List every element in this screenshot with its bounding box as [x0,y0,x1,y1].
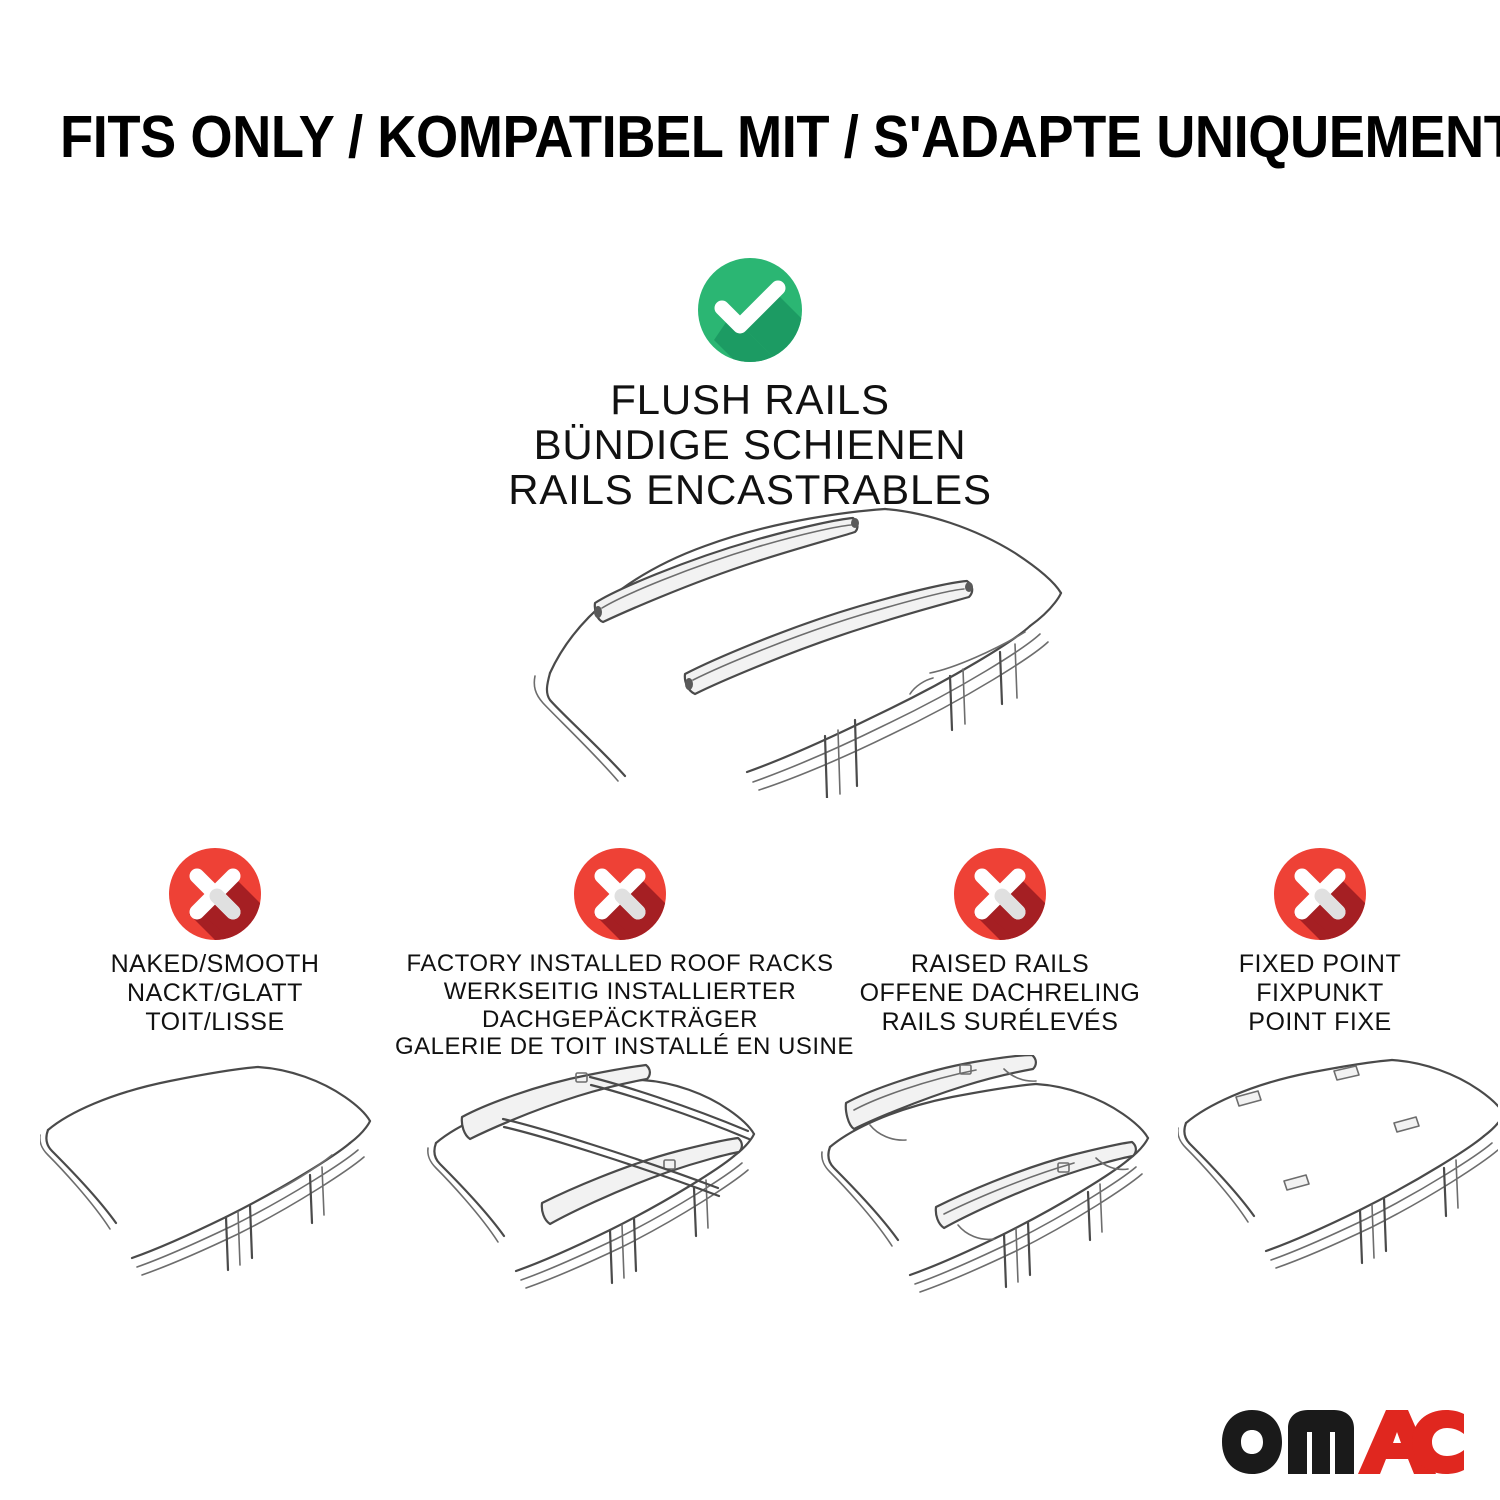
incompatible-item-factory-roof-racks: FACTORY INSTALLED ROOF RACKS WERKSEITIG … [395,848,845,1061]
factory-racks-illustration [418,1055,808,1300]
label-en: FIXED POINT [1175,950,1465,979]
cross-mark-icon [55,848,375,940]
label-de-2: DACHGEPÄCKTRÄGER [395,1006,845,1034]
incompatible-labels: RAISED RAILS OFFENE DACHRELING RAILS SUR… [840,950,1160,1037]
incompatible-labels: FACTORY INSTALLED ROOF RACKS WERKSEITIG … [395,950,845,1061]
compatible-label-de: BÜNDIGE SCHIENEN [0,423,1500,468]
logo-letter-m [1288,1410,1354,1474]
compatible-label-en: FLUSH RAILS [0,378,1500,423]
label-fr: POINT FIXE [1175,1008,1465,1037]
page-title: FITS ONLY / KOMPATIBEL MIT / S'ADAPTE UN… [60,103,1440,171]
compatible-section: FLUSH RAILS BÜNDIGE SCHIENEN RAILS ENCAS… [0,258,1500,513]
label-de: NACKT/GLATT [55,979,375,1008]
label-en: NAKED/SMOOTH [55,950,375,979]
incompatible-item-fixed-point: FIXED POINT FIXPUNKT POINT FIXE [1175,848,1465,1037]
incompatible-section: NAKED/SMOOTH NACKT/GLATT TOIT/LISSE [0,848,1500,1068]
label-de: FIXPUNKT [1175,979,1465,1008]
incompatible-item-naked-smooth: NAKED/SMOOTH NACKT/GLATT TOIT/LISSE [55,848,375,1037]
illustration-row [0,1055,1500,1305]
fixed-point-illustration [1178,1055,1498,1300]
logo-letter-o [1222,1410,1282,1474]
check-badge [0,258,1500,362]
omac-logo [1218,1404,1468,1480]
cross-badge [840,848,1160,940]
check-mark-icon [0,258,1500,362]
cross-mark-icon [840,848,1160,940]
cross-badge [395,848,845,940]
flush-rails-illustration [0,498,1500,803]
label-en: FACTORY INSTALLED ROOF RACKS [395,950,845,978]
label-fr: RAILS SURÉLEVÉS [840,1008,1160,1037]
raised-rails-illustration [808,1055,1198,1300]
cross-badge [55,848,375,940]
naked-roof-illustration [40,1055,410,1300]
compatible-labels: FLUSH RAILS BÜNDIGE SCHIENEN RAILS ENCAS… [0,378,1500,513]
cross-mark-icon [395,848,845,940]
cross-badge [1175,848,1465,940]
incompatible-labels: NAKED/SMOOTH NACKT/GLATT TOIT/LISSE [55,950,375,1037]
label-de: OFFENE DACHRELING [840,979,1160,1008]
label-fr: TOIT/LISSE [55,1008,375,1037]
incompatible-item-raised-rails: RAISED RAILS OFFENE DACHRELING RAILS SUR… [840,848,1160,1037]
label-en: RAISED RAILS [840,950,1160,979]
cross-mark-icon [1175,848,1465,940]
incompatible-labels: FIXED POINT FIXPUNKT POINT FIXE [1175,950,1465,1037]
label-de-1: WERKSEITIG INSTALLIERTER [395,978,845,1006]
